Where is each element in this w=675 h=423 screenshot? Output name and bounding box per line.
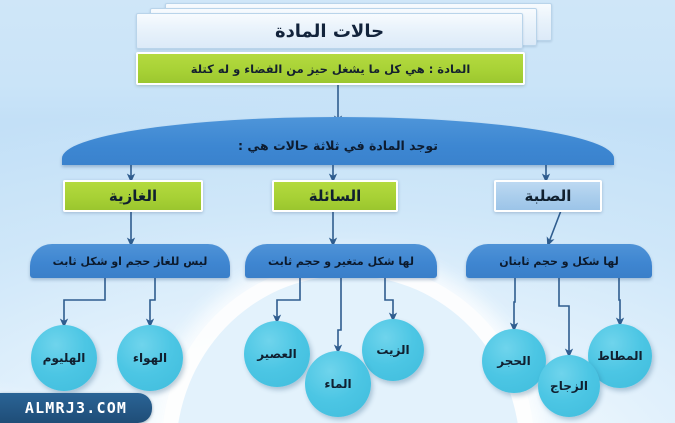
definition-box: المادة : هي كل ما يشغل حيز من الفضاء و ل… [136, 52, 525, 85]
example-label-rubber: المطاط [597, 349, 642, 363]
example-circle-glass[interactable]: الزجاج [538, 355, 600, 417]
property-text-solid: لها شكل و حجم ثابتان [499, 255, 619, 268]
example-circle-stone[interactable]: الحجر [482, 329, 546, 393]
example-circle-air[interactable]: الهواء [117, 325, 183, 391]
example-label-oil: الزيت [376, 343, 409, 357]
state-box-solid[interactable]: الصلبة [494, 180, 602, 212]
state-box-liquid[interactable]: السائلة [272, 180, 398, 212]
example-label-helium: الهليوم [43, 351, 86, 365]
property-box-solid: لها شكل و حجم ثابتان [466, 244, 652, 278]
property-text-gas: ليس للغاز حجم او شكل ثابت [53, 255, 208, 268]
banner-text: توجد المادة في ثلاثة حالات هي : [238, 138, 438, 165]
state-label-gas: الغازية [109, 187, 157, 205]
property-box-liquid: لها شكل متغير و حجم ثابت [245, 244, 437, 278]
property-box-gas: ليس للغاز حجم او شكل ثابت [30, 244, 230, 278]
state-label-solid: الصلبة [525, 187, 572, 205]
example-label-juice: العصير [257, 347, 297, 361]
example-label-stone: الحجر [497, 354, 530, 368]
watermark-text: ALMRJ3.COM [25, 399, 127, 417]
example-label-air: الهواء [133, 351, 167, 365]
example-circle-water[interactable]: الماء [305, 351, 371, 417]
property-text-liquid: لها شكل متغير و حجم ثابت [268, 255, 414, 268]
watermark-badge: ALMRJ3.COM [0, 393, 152, 423]
title-card: حالات المادة [136, 13, 523, 49]
page-title: حالات المادة [275, 21, 384, 42]
example-label-water: الماء [324, 377, 351, 391]
example-circle-helium[interactable]: الهليوم [31, 325, 97, 391]
diagram-canvas: حالات المادة المادة : هي كل ما يشغل حيز … [0, 0, 675, 423]
example-circle-juice[interactable]: العصير [244, 321, 310, 387]
definition-text: المادة : هي كل ما يشغل حيز من الفضاء و ل… [191, 62, 471, 76]
banner-dome: توجد المادة في ثلاثة حالات هي : [62, 117, 614, 165]
state-box-gas[interactable]: الغازية [63, 180, 203, 212]
example-label-glass: الزجاج [550, 379, 588, 393]
state-label-liquid: السائلة [309, 187, 362, 205]
example-circle-oil[interactable]: الزيت [362, 319, 424, 381]
